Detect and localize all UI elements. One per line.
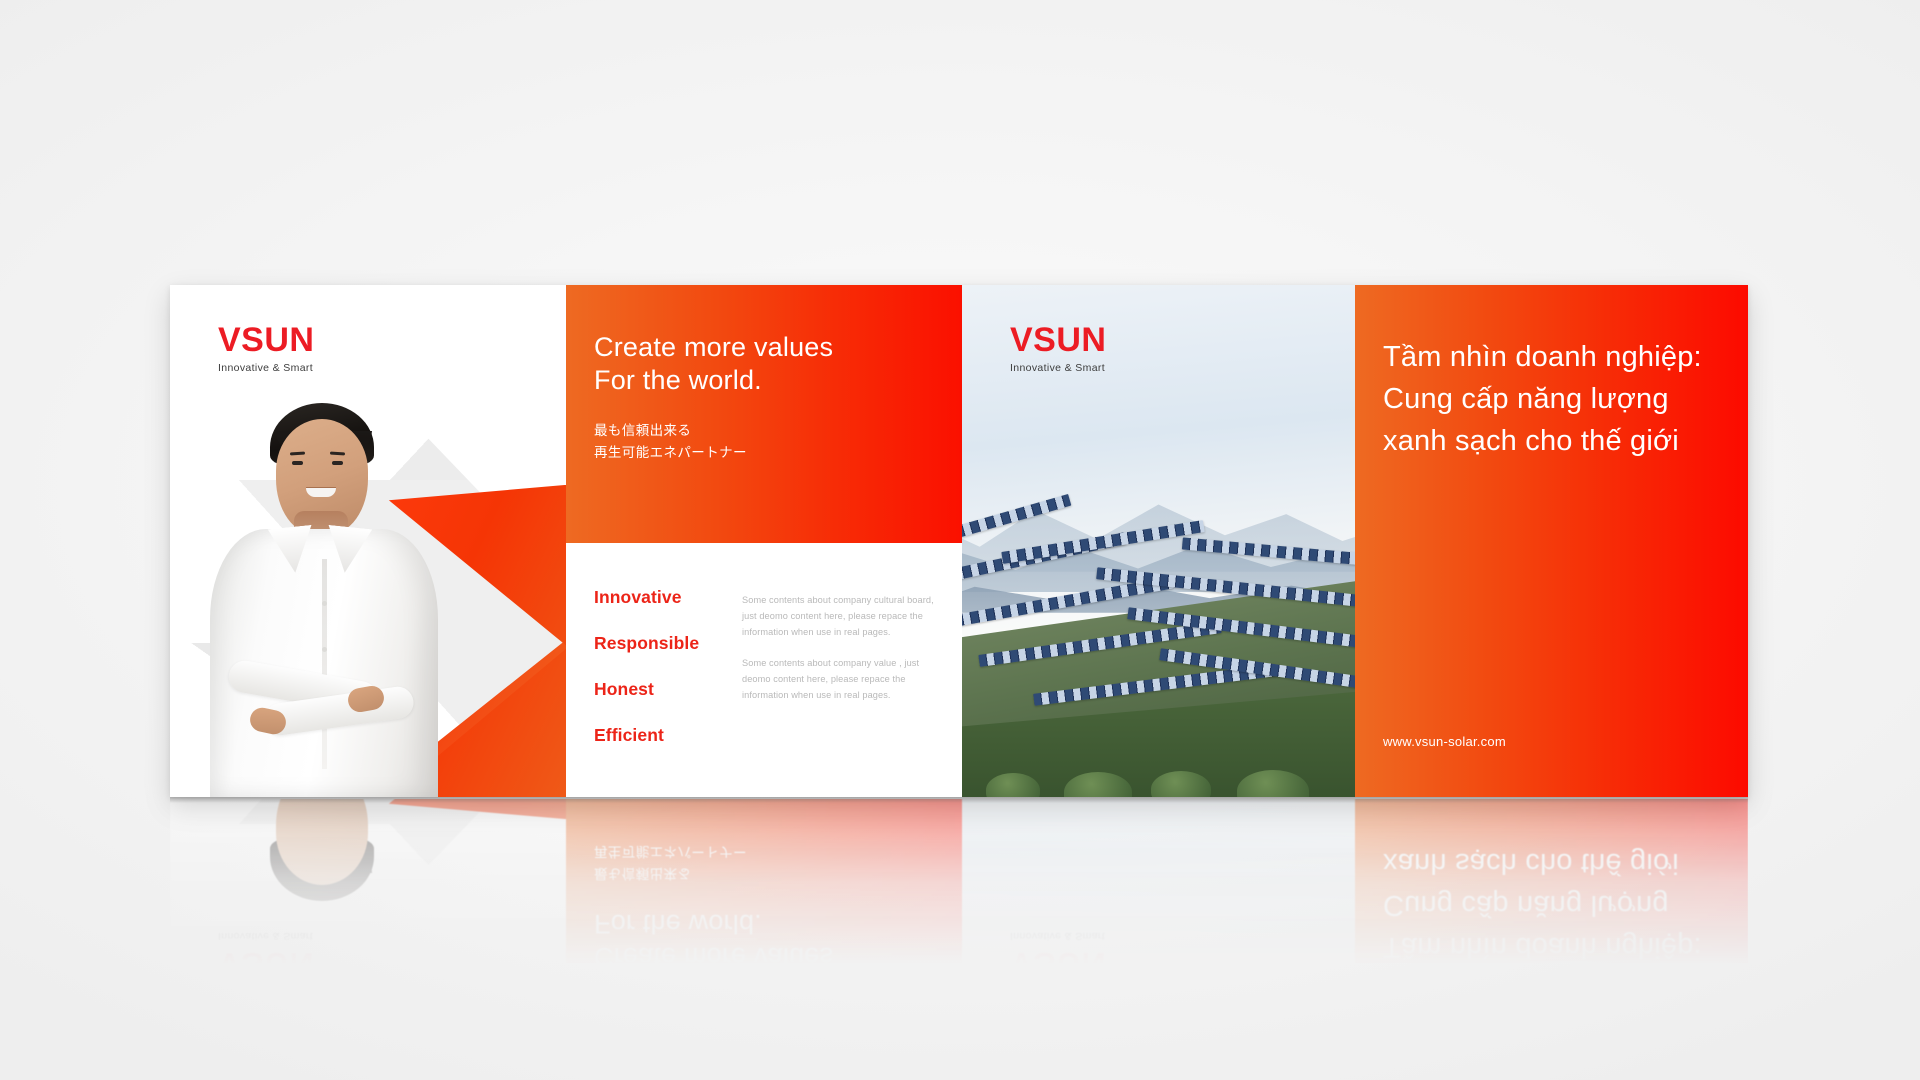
subheadline-line-2: 再生可能エネパートナー [594,442,932,464]
portrait-collar-left [268,525,317,575]
headline-text: Create more values For the world. [594,906,932,973]
presentation-stage: VSUN Innovative & Smart [0,0,1920,1080]
values-list: Innovative Responsible Honest Efficient [594,587,722,797]
background-wedge-grey-a [170,799,566,1019]
logo-photo-panel: VSUN Innovative & Smart [1010,323,1106,374]
card-reflection-mirror: VSUN Innovative & Smart [170,799,1748,1019]
headline-line-2: For the world. [594,906,932,939]
photo-sky [962,799,1355,1019]
portrait-eye-right [332,461,343,465]
background-wedge-white [281,799,566,1019]
photo-panel: VSUN Innovative & Smart [962,285,1355,797]
logo-tagline: Innovative & Smart [218,362,314,374]
reflected-brochure-card: VSUN Innovative & Smart [170,799,1748,1019]
subheadline-japanese: 最も信頼出来る 再生可能エネパートナー [594,840,932,884]
subheadline-line-1: 最も信頼出来る [594,420,932,442]
vision-panel: Tầm nhìn doanh nghiệp: Cung cấp năng lượ… [1355,285,1748,797]
reflected-logo-cover: VSUN Innovative & Smart [218,930,314,981]
headline-block: Create more values For the world. 最も信頼出来… [566,285,962,543]
photo-mountain-far [962,799,1355,828]
logo-cover: VSUN Innovative & Smart [218,323,314,374]
logo-wordmark: VSUN [218,947,314,981]
subheadline-line-1: 最も信頼出来る [594,862,932,884]
card-reflection: VSUN Innovative & Smart [170,799,1748,1019]
photo-bush [986,773,1040,797]
portrait-mouth [306,488,336,497]
logo-wordmark: VSUN [218,323,314,357]
logo-tagline: Innovative & Smart [1010,362,1106,374]
vision-statement: Tầm nhìn doanh nghiệp: Cung cấp năng lượ… [1383,337,1720,462]
headline-line-2: For the world. [594,364,932,397]
cover-panel: VSUN Innovative & Smart [170,285,566,797]
portrait-head [276,799,368,885]
portrait-shirt-button [322,601,327,606]
copy-paragraph-2: Some contents about company value , just… [742,656,938,703]
values-copy: Some contents about company cultural boa… [742,587,938,797]
website-url[interactable]: www.vsun-solar.com [1383,734,1720,749]
headline-line-1: Create more values [594,940,932,973]
reflected-photo-panel: VSUN Innovative & Smart [962,799,1355,1019]
portrait-hair [270,839,374,901]
card-base-edge [170,797,1748,803]
vision-statement: Tầm nhìn doanh nghiệp: Cung cấp năng lượ… [1383,842,1720,967]
portrait-collar-right [324,525,373,575]
portrait-shirt-placket [322,559,327,769]
logo-wordmark: VSUN [1010,323,1106,357]
reflected-portrait [198,799,448,873]
logo-tagline: Innovative & Smart [1010,930,1106,942]
values-content: Innovative Responsible Honest Efficient … [566,543,962,797]
value-item-efficient: Efficient [594,725,722,746]
value-item-responsible: Responsible [594,633,722,654]
value-item-innovative: Innovative [594,587,722,608]
subheadline-line-2: 再生可能エネパートナー [594,840,932,862]
portrait-photo [198,431,448,797]
reflected-values-panel: Create more values For the world. 最も信頼出来… [566,799,962,1019]
portrait-eye-left [292,461,303,465]
subheadline-japanese: 最も信頼出来る 再生可能エネパートナー [594,420,932,464]
copy-paragraph-1: Some contents about company cultural boa… [742,593,938,640]
photo-bush [1151,771,1211,797]
value-item-honest: Honest [594,679,722,700]
portrait-shirt-button [322,647,327,652]
logo-tagline: Innovative & Smart [218,930,314,942]
reflected-vision-panel: Tầm nhìn doanh nghiệp: Cung cấp năng lượ… [1355,799,1748,1019]
logo-wordmark: VSUN [1010,947,1106,981]
reflected-cover-panel: VSUN Innovative & Smart [170,799,566,1019]
reflected-headline-block: Create more values For the world. 最も信頼出来… [566,799,962,1019]
values-panel: Create more values For the world. 最も信頼出来… [566,285,962,797]
headline-text: Create more values For the world. [594,331,932,398]
headline-line-1: Create more values [594,331,932,364]
brochure-card: VSUN Innovative & Smart [170,285,1748,797]
reflected-logo-photo: VSUN Innovative & Smart [1010,930,1106,981]
